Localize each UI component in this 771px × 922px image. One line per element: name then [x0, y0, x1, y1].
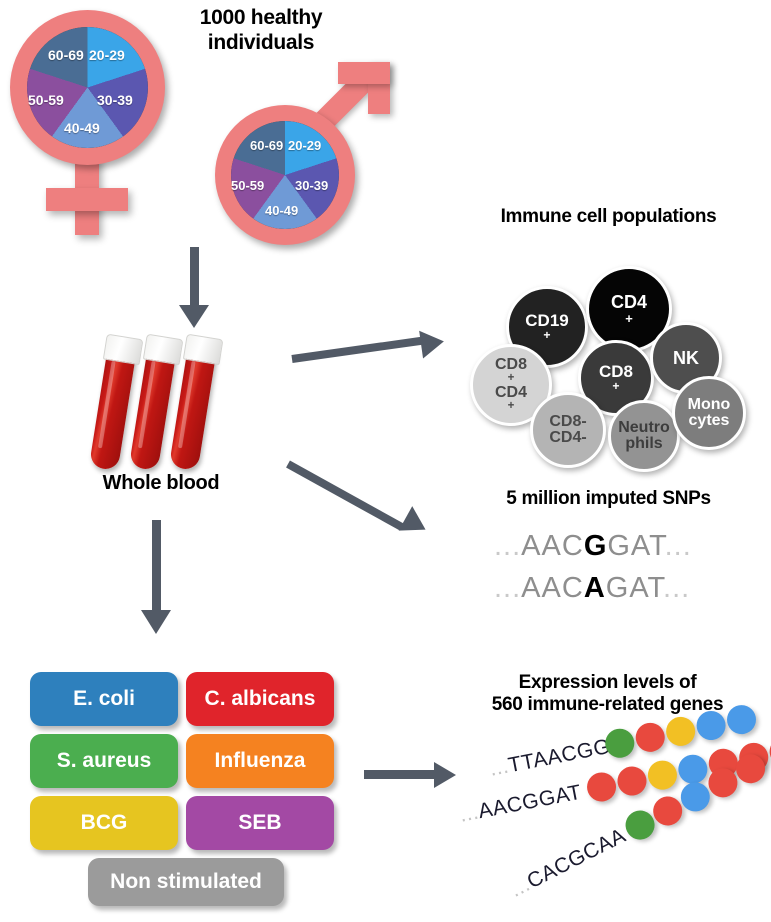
- immune-cell-label: CD8+: [599, 363, 633, 393]
- mars-arrow-barb-horizontal: [338, 62, 390, 84]
- stimulus-label: Influenza: [214, 749, 305, 773]
- strand-bead-red: [615, 764, 649, 798]
- whole-blood-tubes: [100, 340, 240, 480]
- snp2-left-bases: AAC: [521, 572, 584, 604]
- venus-slice-label-40-49: 40-49: [64, 120, 100, 136]
- immune-cell-label: Neutrophils: [618, 420, 670, 453]
- immune-cell-mono-cytes: Monocytes: [672, 376, 746, 450]
- strand-sequence-text: ...AACGGAT: [458, 781, 584, 828]
- heading-immune-cell-populations: Immune cell populations: [446, 206, 771, 228]
- stimulus-label: Non stimulated: [110, 870, 262, 894]
- venus-slice-label-20-29: 20-29: [89, 47, 125, 63]
- strand-bead-yellow: [664, 714, 698, 748]
- strand-bead-blue: [694, 708, 728, 742]
- stimulus-pill-influenza[interactable]: Influenza: [186, 734, 334, 788]
- mars-symbol-group: 20-29 30-39 40-49 50-59 60-69: [205, 60, 420, 245]
- immune-cell-label: NK: [673, 349, 699, 367]
- stimulus-label: SEB: [238, 811, 281, 835]
- stimulus-label: BCG: [81, 811, 128, 835]
- snp-sequence-allele-1: ...AACGGAT...: [494, 530, 692, 563]
- strand-bead-blue: [725, 703, 759, 737]
- snp1-variant-base: G: [584, 530, 608, 562]
- snp2-right-bases: GAT: [606, 572, 663, 604]
- expression-strand-group: ...TTAACGG...AACGGAT...CACGCAA: [460, 740, 771, 920]
- venus-slice-label-60-69: 60-69: [48, 47, 84, 63]
- snp1-right-bases: GAT: [607, 530, 664, 562]
- strand-sequence-text: ...CACGCAA: [507, 824, 630, 903]
- mars-slice-label-20-29: 20-29: [288, 138, 321, 153]
- stimulus-pill-non-stimulated[interactable]: Non stimulated: [88, 858, 284, 906]
- label-whole-blood: Whole blood: [46, 472, 276, 496]
- venus-slice-label-30-39: 30-39: [97, 92, 133, 108]
- immune-cell-label: CD19+: [525, 312, 568, 342]
- strand-bead-red: [633, 720, 667, 754]
- mars-slice-label-60-69: 60-69: [250, 138, 283, 153]
- immune-cell-label: CD8+CD4+: [495, 357, 527, 413]
- immune-cell-cd8-cd4: CD8-CD4-: [530, 392, 606, 468]
- venus-symbol-group: 20-29 30-39 40-49 50-59 60-69: [10, 10, 185, 235]
- stimulus-pill-seb[interactable]: SEB: [186, 796, 334, 850]
- strand-bead-yellow: [645, 758, 679, 792]
- stimulus-pill-e-coli[interactable]: E. coli: [30, 672, 178, 726]
- stimulus-label: S. aureus: [57, 749, 152, 773]
- mars-slice-label-40-49: 40-49: [265, 203, 298, 218]
- stimulus-label: E. coli: [73, 687, 135, 711]
- immune-cell-cluster: CD19+CD4+CD8+CD4+CD8+NKCD8-CD4-Neutrophi…: [468, 240, 768, 425]
- mars-slice-label-30-39: 30-39: [295, 178, 328, 193]
- heading-imputed-snps: 5 million imputed SNPs: [446, 488, 771, 510]
- immune-cell-label: CD8-CD4-: [549, 414, 586, 447]
- immune-cell-label: CD4+: [611, 293, 647, 325]
- stimulus-pill-c-albicans[interactable]: C. albicans: [186, 672, 334, 726]
- strand-bead-red: [585, 770, 619, 804]
- page-title-cohort: 1000 healthy individuals: [166, 6, 356, 56]
- figure-canvas: 20-29 30-39 40-49 50-59 60-69 20-29 30-3…: [0, 0, 771, 922]
- snp-sequence-allele-2: ...AACAGAT...: [494, 572, 690, 605]
- venus-slice-label-50-59: 50-59: [28, 92, 64, 108]
- snp1-leading-dots: ...: [494, 530, 521, 562]
- mars-slice-label-50-59: 50-59: [231, 178, 264, 193]
- snp1-trailing-dots: ...: [665, 530, 692, 562]
- stimulation-panel: E. coliC. albicansS. aureusInfluenzaBCGS…: [30, 672, 350, 902]
- snp2-leading-dots: ...: [494, 572, 521, 604]
- stimulus-label: C. albicans: [205, 687, 316, 711]
- snp2-trailing-dots: ...: [663, 572, 690, 604]
- stimulus-pill-s-aureus[interactable]: S. aureus: [30, 734, 178, 788]
- snp1-left-bases: AAC: [521, 530, 584, 562]
- snp2-variant-base: A: [584, 572, 606, 604]
- immune-cell-neutro-phils: Neutrophils: [608, 400, 680, 472]
- stimulus-pill-bcg[interactable]: BCG: [30, 796, 178, 850]
- venus-stem-cross: [46, 188, 128, 211]
- immune-cell-label: Monocytes: [688, 397, 731, 430]
